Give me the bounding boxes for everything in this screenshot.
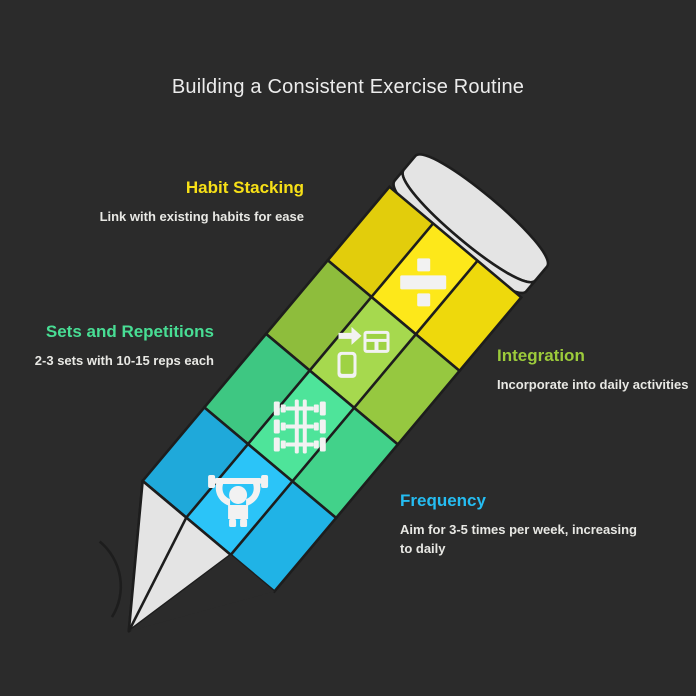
callout-integration: Integration Incorporate into daily activ…	[497, 345, 696, 394]
dumbbells-icon	[274, 399, 326, 453]
callout-description-frequency: Aim for 3-5 times per week, increasing t…	[400, 520, 640, 558]
callout-habit-stacking: Habit Stacking Link with existing habits…	[64, 177, 304, 226]
infographic-canvas: Building a Consistent Exercise Routine	[0, 0, 696, 696]
callout-title-frequency: Frequency	[400, 490, 640, 511]
callout-frequency: Frequency Aim for 3-5 times per week, in…	[400, 490, 640, 558]
callout-description-sets-reps: 2-3 sets with 10-15 reps each	[0, 351, 214, 370]
callout-title-integration: Integration	[497, 345, 696, 366]
callout-title-habit-stacking: Habit Stacking	[64, 177, 304, 198]
callout-title-sets-reps: Sets and Repetitions	[0, 321, 214, 342]
callout-description-integration: Incorporate into daily activities	[497, 375, 696, 394]
callout-description-habit-stacking: Link with existing habits for ease	[64, 207, 304, 226]
callout-sets-reps: Sets and Repetitions 2-3 sets with 10-15…	[0, 321, 214, 370]
